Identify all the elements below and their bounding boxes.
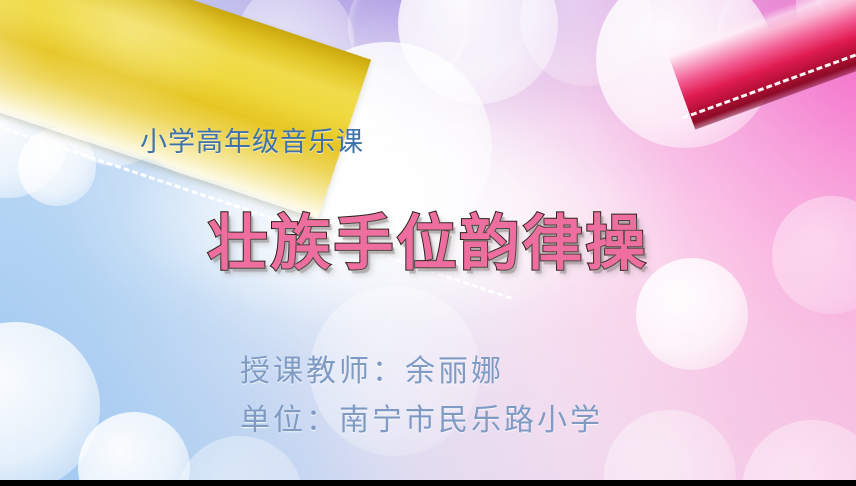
- credits-block: 授课教师：余丽娜 单位：南宁市民乐路小学: [240, 348, 603, 445]
- presentation-slide: 小学高年级音乐课 壮族手位韵律操 授课教师：余丽娜 单位：南宁市民乐路小学: [0, 0, 856, 486]
- slide-content: 小学高年级音乐课 壮族手位韵律操 授课教师：余丽娜 单位：南宁市民乐路小学: [0, 0, 856, 486]
- subject-label: 小学高年级音乐课: [140, 129, 364, 156]
- unit-line: 单位：南宁市民乐路小学: [240, 397, 603, 446]
- teacher-line: 授课教师：余丽娜: [240, 348, 603, 397]
- page-title: 壮族手位韵律操: [0, 214, 856, 274]
- bottom-letterbox-bar: [0, 480, 856, 486]
